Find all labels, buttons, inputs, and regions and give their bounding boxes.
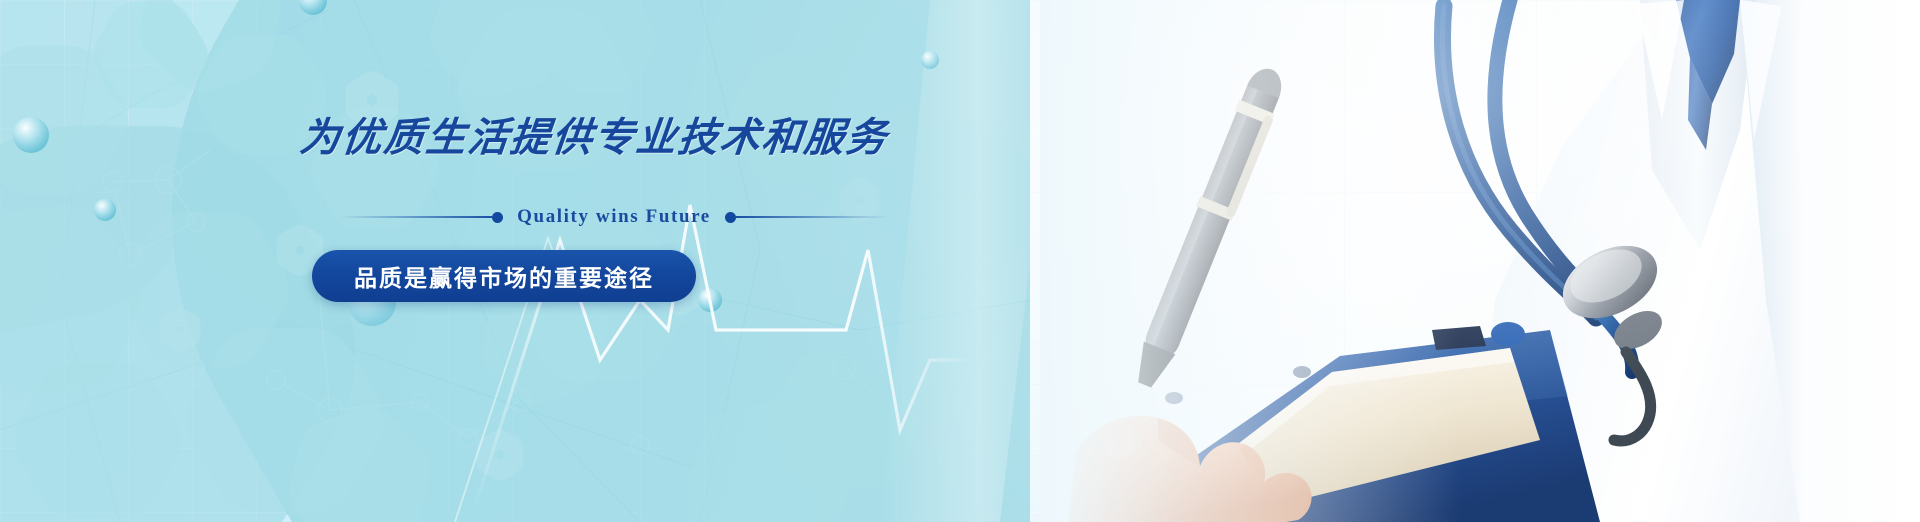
banner-content: 为优质生活提供专业技术和服务 Quality wins Future 品质是赢得… xyxy=(300,118,1000,302)
tagline-dot-left xyxy=(492,212,503,223)
tagline-dot-right xyxy=(725,212,736,223)
banner-headline: 为优质生活提供专业技术和服务 xyxy=(298,118,1002,158)
doctor-with-clipboard-photo xyxy=(1040,0,1920,522)
tagline-rule-left xyxy=(340,216,492,218)
slogan-pill-label: 品质是赢得市场的重要途径 xyxy=(354,259,654,293)
tagline-rule-right xyxy=(736,216,888,218)
tagline-row: Quality wins Future xyxy=(340,206,888,228)
banner-tagline: Quality wins Future xyxy=(503,206,725,228)
slogan-pill-button[interactable]: 品质是赢得市场的重要途径 xyxy=(312,250,696,302)
hero-banner: 为优质生活提供专业技术和服务 Quality wins Future 品质是赢得… xyxy=(0,0,1920,522)
